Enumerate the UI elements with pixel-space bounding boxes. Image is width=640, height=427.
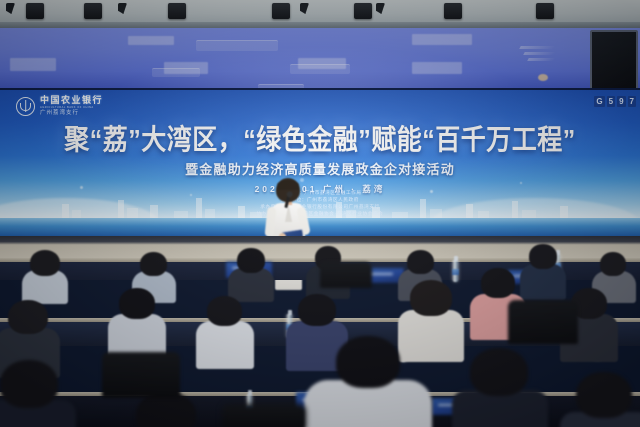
chair-back bbox=[320, 262, 372, 288]
spotlight-icon bbox=[84, 3, 102, 19]
spotlight-icon bbox=[26, 3, 44, 19]
bank-logo-lockup: 中国农业银行 AGRICULTURAL BANK OF CHINA 广州荔湾支行 bbox=[16, 96, 103, 117]
conference-photo-scene: 中国农业银行 AGRICULTURAL BANK OF CHINA 广州荔湾支行… bbox=[0, 0, 640, 427]
bank-name-en: AGRICULTURAL BANK OF CHINA bbox=[40, 107, 103, 110]
spotlight-icon bbox=[536, 3, 554, 19]
chair-back bbox=[508, 300, 578, 344]
serial-char: G bbox=[594, 96, 604, 107]
abc-wheat-coin-icon bbox=[16, 97, 35, 116]
spotlight-icon bbox=[168, 3, 186, 19]
chair-back bbox=[102, 352, 180, 398]
spotlight-icon bbox=[272, 3, 290, 19]
serial-char: 7 bbox=[628, 96, 636, 107]
wall-monitor bbox=[590, 30, 638, 92]
serial-watermark: G 5 9 7 bbox=[594, 96, 636, 107]
water-bottle bbox=[452, 260, 459, 282]
bank-branch-cn: 广州荔湾支行 bbox=[40, 111, 103, 117]
chair-back bbox=[222, 404, 306, 427]
event-title-block: 聚“荔”大湾区，“绿色金融”赋能“百千万工程” 暨金融助力经济高质量发展政金企对… bbox=[0, 128, 640, 195]
event-title-main: 聚“荔”大湾区，“绿色金融”赋能“百千万工程” bbox=[0, 127, 640, 155]
bank-name-cn: 中国农业银行 bbox=[40, 96, 103, 105]
event-title-sub: 暨金融助力经济高质量发展政金企对接活动 bbox=[0, 159, 640, 178]
serial-char: 9 bbox=[617, 96, 625, 107]
organizer-list: 指导单位：广州市荔湾区金融工作局 主办单位：广州市荔湾区人民政府 承办单位：中国… bbox=[0, 190, 640, 217]
spotlight-icon bbox=[354, 3, 372, 19]
back-wall bbox=[0, 28, 640, 90]
spotlight-icon bbox=[444, 3, 462, 19]
serial-char: 5 bbox=[607, 96, 615, 107]
